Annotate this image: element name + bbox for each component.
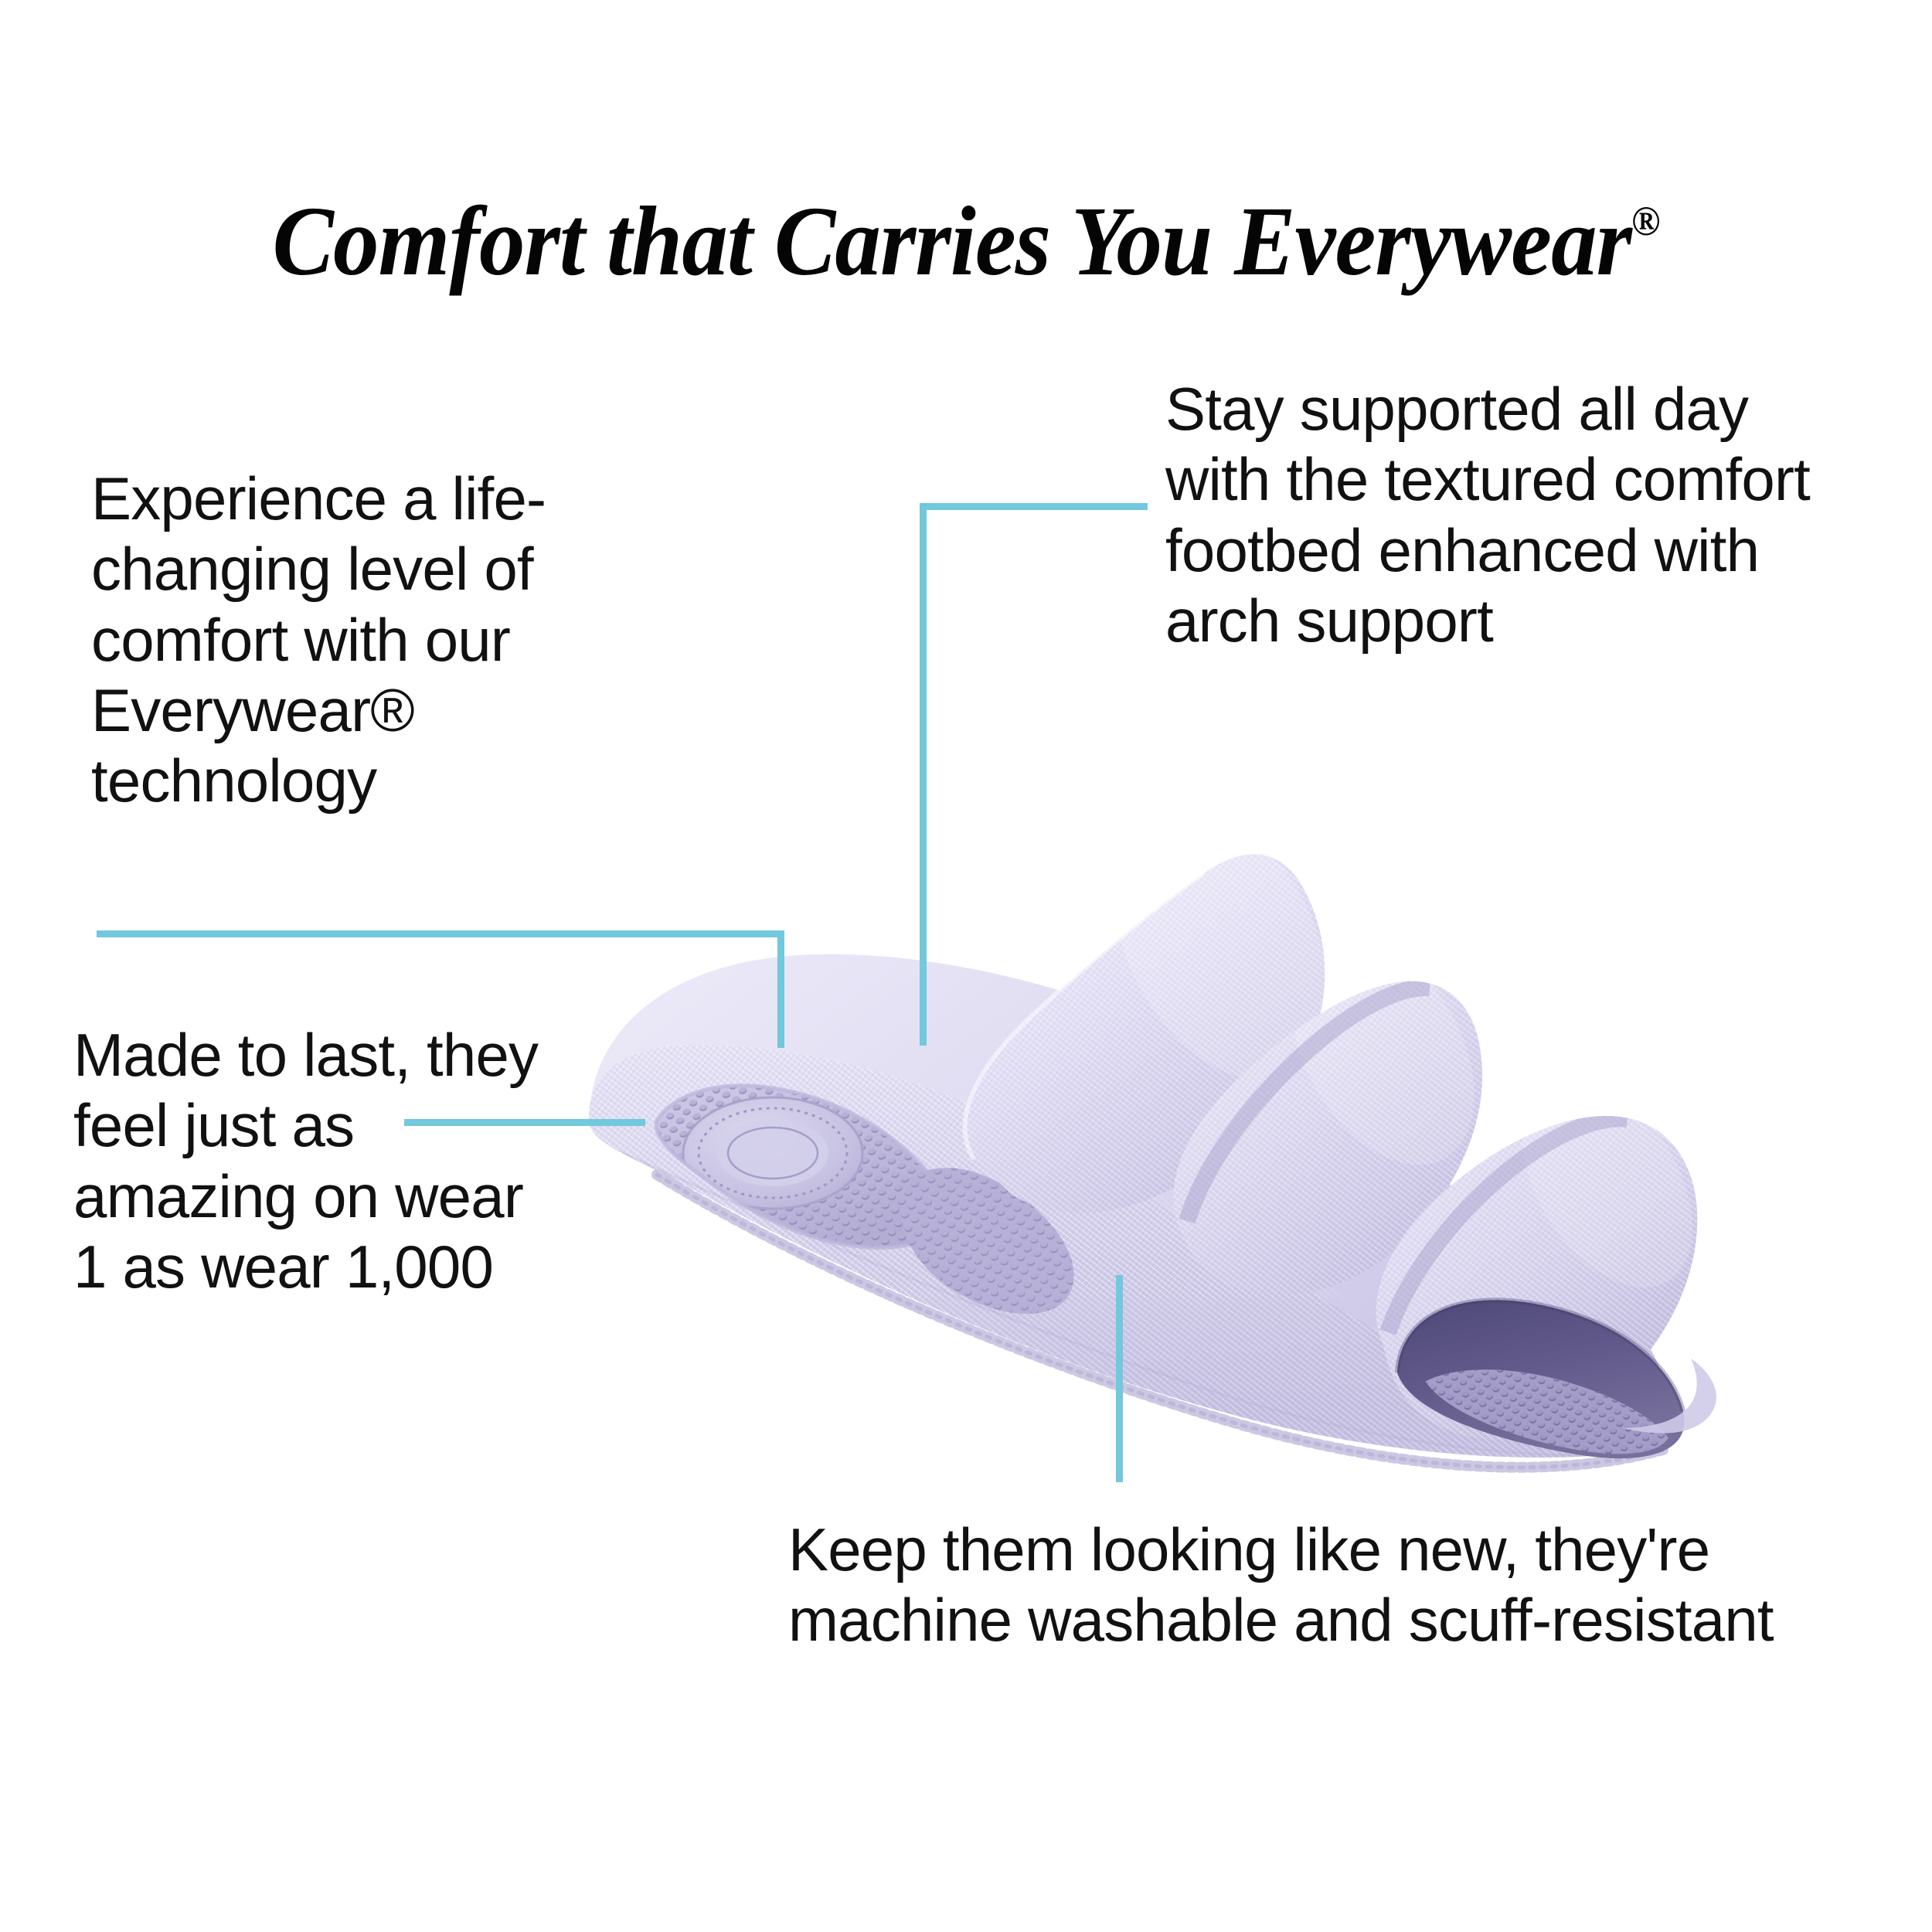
- callout-machine-washable: Keep them looking like new, they're mach…: [788, 1515, 1793, 1656]
- callout-everywear-technology: Experience a life-changing level of comf…: [91, 464, 679, 816]
- page-title-text: Comfort that Carries You Everywear: [273, 186, 1632, 296]
- registered-trademark-icon: ®: [1631, 198, 1659, 244]
- leader-line-arch-vertical: [920, 503, 927, 1046]
- product-image-slide-sandal: [541, 757, 1901, 1453]
- callout-durability: Made to last, they feel just as amazing …: [73, 1020, 553, 1302]
- leader-line-technology-horizontal: [97, 930, 784, 937]
- leader-line-washable: [1116, 1275, 1123, 1482]
- leader-line-technology-vertical: [777, 930, 784, 1048]
- leader-line-arch-horizontal: [920, 503, 1148, 510]
- page-title: Comfort that Carries You Everywear®: [68, 192, 1865, 291]
- callout-arch-support: Stay supported all day with the textured…: [1165, 374, 1845, 656]
- infographic-canvas: Comfort that Carries You Everywear®: [0, 0, 1932, 1932]
